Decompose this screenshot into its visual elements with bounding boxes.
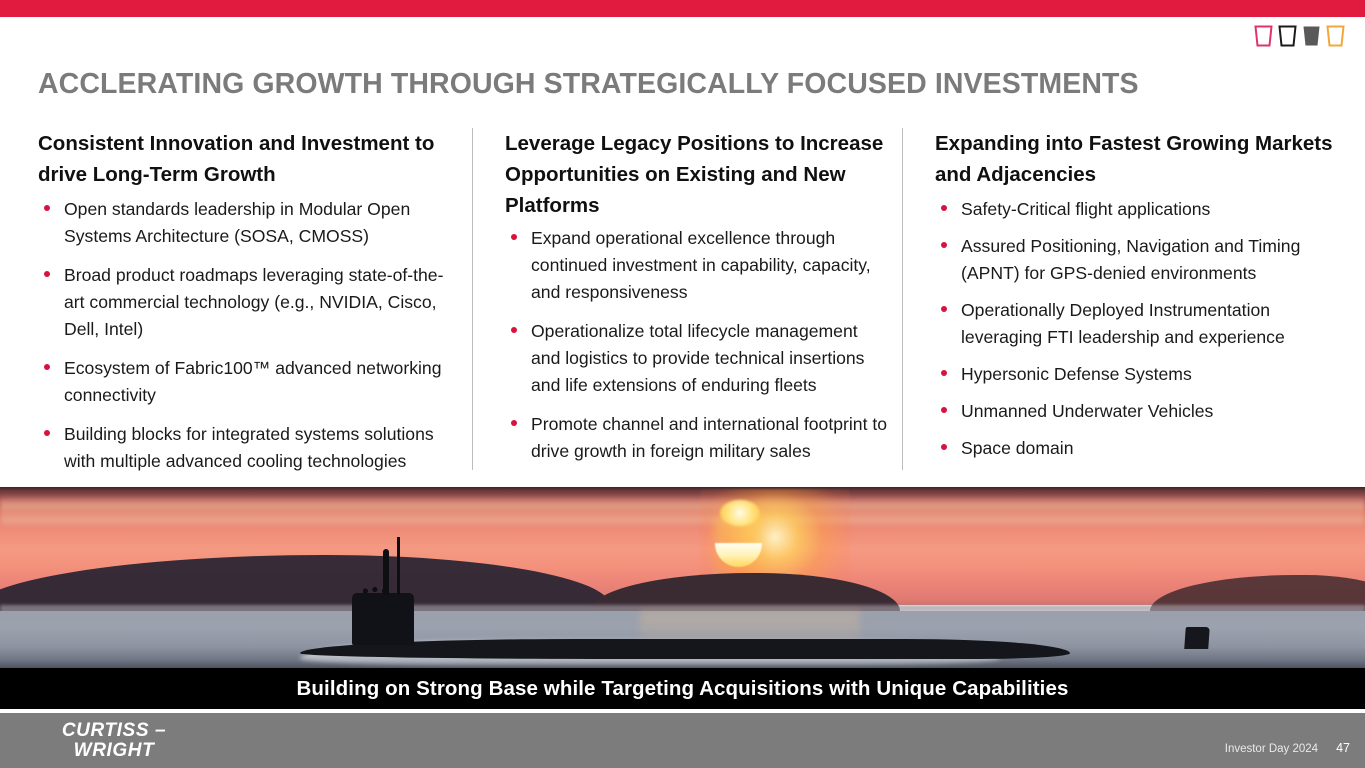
bullet-dot-icon bbox=[941, 407, 947, 413]
bullet-dot-icon bbox=[44, 205, 50, 211]
bullet-dot-icon bbox=[941, 370, 947, 376]
bullet-dot-icon bbox=[44, 430, 50, 436]
submarine-sail bbox=[352, 593, 414, 645]
bullet-dot-icon bbox=[941, 444, 947, 450]
logo-line-1: CURTISS – bbox=[62, 720, 166, 741]
list-item-text: Operationalize total lifecycle managemen… bbox=[531, 321, 864, 395]
caption-bar: Building on Strong Base while Targeting … bbox=[0, 668, 1365, 709]
list-item: Expand operational excellence through co… bbox=[505, 225, 889, 306]
submarine-crew-silhouettes bbox=[362, 585, 396, 595]
list-item: Ecosystem of Fabric100™ advanced network… bbox=[38, 355, 459, 409]
cloud-band-lower bbox=[0, 513, 1365, 527]
list-item: Operationalize total lifecycle managemen… bbox=[505, 318, 889, 399]
trapezoid-mark-gray-icon bbox=[1302, 25, 1321, 47]
list-item-text: Open standards leadership in Modular Ope… bbox=[64, 199, 410, 246]
bullet-dot-icon bbox=[511, 420, 517, 426]
bullet-dot-icon bbox=[44, 364, 50, 370]
caption-text: Building on Strong Base while Targeting … bbox=[297, 677, 1069, 701]
list-item-text: Space domain bbox=[961, 438, 1073, 458]
list-item-text: Building blocks for integrated systems s… bbox=[64, 424, 434, 471]
list-item: Broad product roadmaps leveraging state-… bbox=[38, 262, 459, 343]
list-item-text: Hypersonic Defense Systems bbox=[961, 364, 1192, 384]
column-fastest-growing-markets: Expanding into Fastest Growing Markets a… bbox=[903, 128, 1365, 478]
list-item: Open standards leadership in Modular Ope… bbox=[38, 196, 459, 250]
bullet-dot-icon bbox=[941, 205, 947, 211]
list-item: Space domain bbox=[935, 435, 1351, 462]
list-item: Promote channel and international footpr… bbox=[505, 411, 889, 465]
bullet-dot-icon bbox=[941, 306, 947, 312]
list-item: Building blocks for integrated systems s… bbox=[38, 421, 459, 475]
list-item: Safety-Critical flight applications bbox=[935, 196, 1351, 223]
footer-meta: Investor Day 2024 47 bbox=[1225, 741, 1350, 755]
list-item-text: Assured Positioning, Navigation and Timi… bbox=[961, 236, 1300, 283]
column-heading: Expanding into Fastest Growing Markets a… bbox=[935, 128, 1351, 190]
logo-line-2: WRIGHT bbox=[34, 741, 194, 760]
list-item-text: Ecosystem of Fabric100™ advanced network… bbox=[64, 358, 441, 405]
column-legacy-positions: Leverage Legacy Positions to Increase Op… bbox=[473, 128, 903, 478]
list-item-text: Broad product roadmaps leveraging state-… bbox=[64, 265, 443, 339]
trapezoid-mark-pink-icon bbox=[1254, 25, 1273, 47]
column-heading: Leverage Legacy Positions to Increase Op… bbox=[505, 128, 889, 221]
column-innovation: Consistent Innovation and Investment to … bbox=[0, 128, 473, 478]
bullet-list: Open standards leadership in Modular Ope… bbox=[38, 196, 459, 475]
list-item-text: Operationally Deployed Instrumentation l… bbox=[961, 300, 1285, 347]
trapezoid-mark-gold-icon bbox=[1326, 25, 1345, 47]
footer-event-label: Investor Day 2024 bbox=[1225, 743, 1318, 755]
slide: ACCLERATING GROWTH THROUGH STRATEGICALLY… bbox=[0, 0, 1365, 768]
bullet-dot-icon bbox=[511, 234, 517, 240]
photo-canvas bbox=[0, 487, 1365, 668]
curtiss-wright-logo: CURTISS – WRIGHT bbox=[34, 721, 194, 760]
list-item-text: Expand operational excellence through co… bbox=[531, 228, 871, 302]
bullet-dot-icon bbox=[511, 327, 517, 333]
submarine-mast-antenna bbox=[397, 537, 400, 595]
list-item: Assured Positioning, Navigation and Timi… bbox=[935, 233, 1351, 287]
page-title: ACCLERATING GROWTH THROUGH STRATEGICALLY… bbox=[38, 68, 1139, 101]
list-item-text: Safety-Critical flight applications bbox=[961, 199, 1210, 219]
list-item: Unmanned Underwater Vehicles bbox=[935, 398, 1351, 425]
bullet-dot-icon bbox=[941, 242, 947, 248]
list-item-text: Unmanned Underwater Vehicles bbox=[961, 401, 1213, 421]
bullet-list: Safety-Critical flight applications Assu… bbox=[935, 196, 1351, 462]
content-columns: Consistent Innovation and Investment to … bbox=[0, 128, 1365, 478]
brand-marks bbox=[1254, 25, 1345, 47]
trapezoid-mark-black-icon bbox=[1278, 25, 1297, 47]
slide-footer: CURTISS – WRIGHT Investor Day 2024 47 bbox=[0, 713, 1365, 768]
sun-upper-disc bbox=[720, 500, 760, 526]
list-item-text: Promote channel and international footpr… bbox=[531, 414, 887, 461]
bullet-list: Expand operational excellence through co… bbox=[505, 225, 889, 465]
column-heading: Consistent Innovation and Investment to … bbox=[38, 128, 459, 190]
page-number: 47 bbox=[1336, 741, 1350, 755]
list-item: Operationally Deployed Instrumentation l… bbox=[935, 297, 1351, 351]
submarine-sunset-photo bbox=[0, 487, 1365, 668]
bullet-dot-icon bbox=[44, 271, 50, 277]
list-item: Hypersonic Defense Systems bbox=[935, 361, 1351, 388]
rudder-silhouette bbox=[1184, 627, 1210, 649]
submarine-hull bbox=[300, 639, 1070, 659]
top-accent-bar bbox=[0, 0, 1365, 17]
